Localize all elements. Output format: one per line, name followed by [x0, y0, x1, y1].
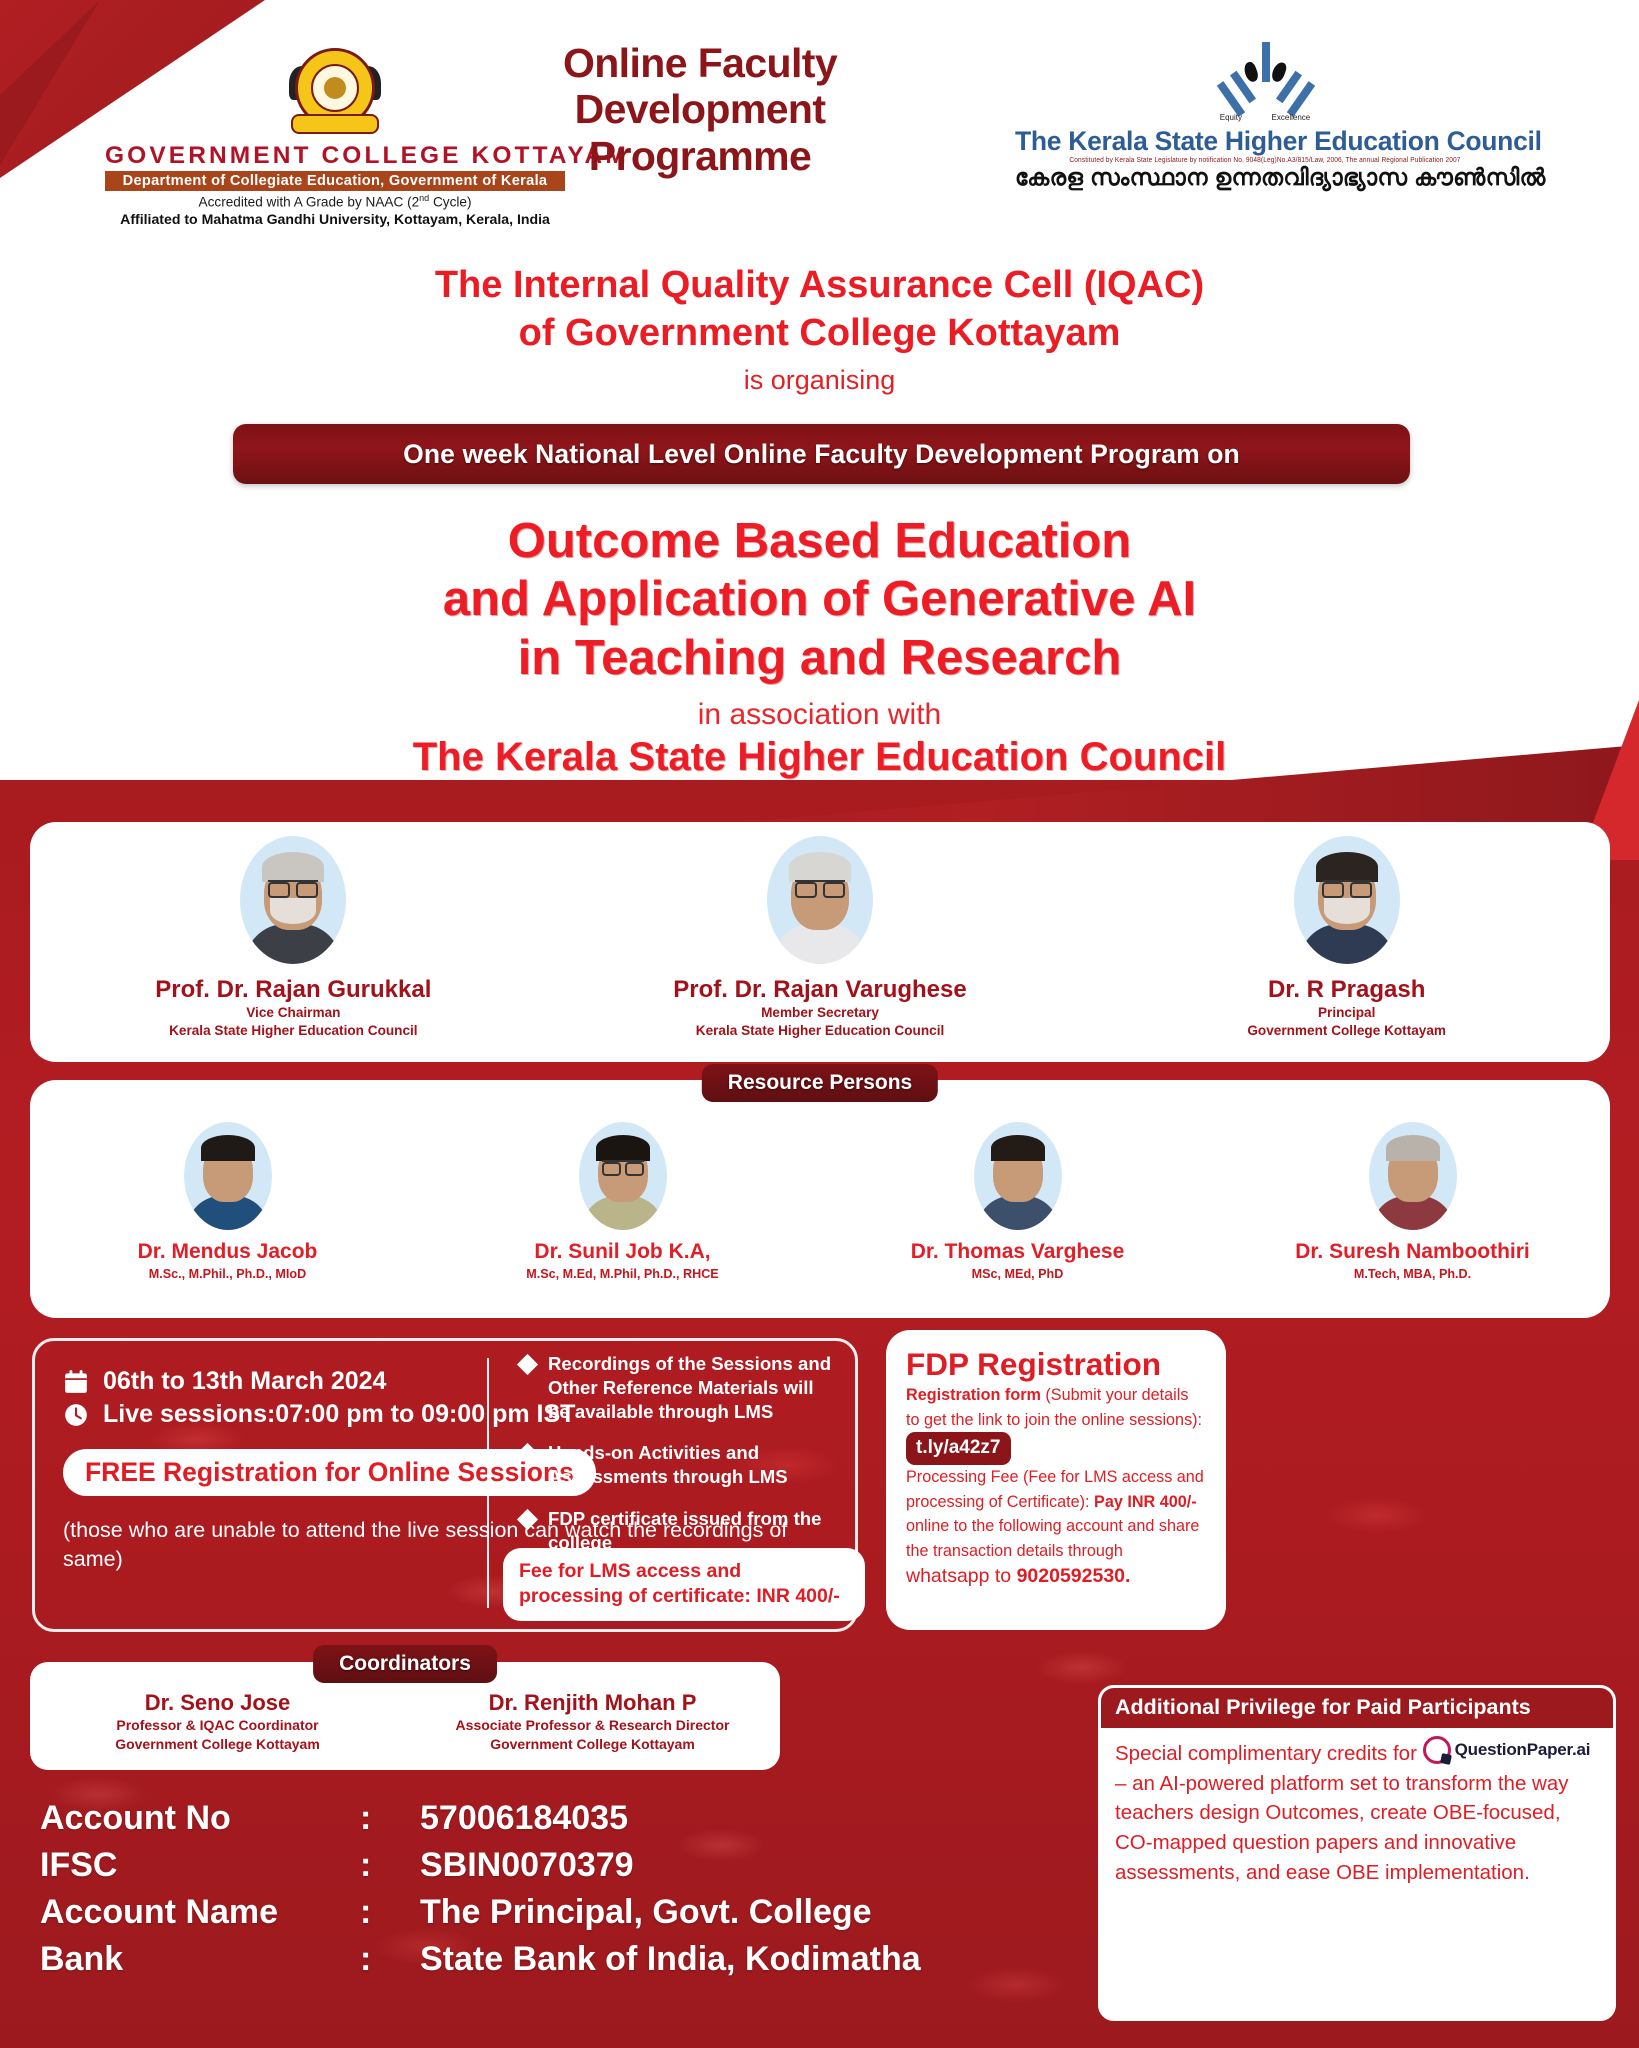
organiser-line-1: The Internal Quality Assurance Cell (IQA… — [0, 262, 1639, 310]
resource-person-name: Dr. Thomas Varghese — [911, 1240, 1125, 1264]
resource-person-degrees: MSc, MEd, PhD — [972, 1267, 1064, 1281]
kshec-logo-block: Equity Excellence The Kerala State Highe… — [1015, 28, 1515, 191]
whatsapp-number: 9020592530. — [1017, 1565, 1131, 1587]
feature-text: Recordings of the Sessions and Other Ref… — [548, 1352, 840, 1423]
kshec-title-ml: കേരള സംസ്ഥാന ഉന്നതവിദ്യാഭ്യാസ കൗൺസിൽ — [1015, 164, 1515, 191]
dignitary-name: Prof. Dr. Rajan Gurukkal — [155, 976, 431, 1004]
coordinators-card: Coordinators Dr. Seno JoseProfessor & IQ… — [30, 1662, 780, 1770]
organiser-block: The Internal Quality Assurance Cell (IQA… — [0, 262, 1639, 396]
dignitary-card: Prof. Dr. Rajan GurukkalVice ChairmanKer… — [30, 822, 557, 1062]
program-title-line-3: in Teaching and Research — [0, 629, 1639, 687]
resource-person-degrees: M.Sc, M.Ed, M.Phil, Ph.D., RHCE — [526, 1267, 718, 1281]
bank-field-label: Account No — [40, 1795, 360, 1842]
resource-person-card: Dr. Thomas VargheseMSc, MEd, PhD — [820, 1122, 1215, 1318]
resource-person-degrees: M.Sc., M.Phil., Ph.D., MIoD — [149, 1267, 306, 1281]
program-title: Outcome Based Education and Application … — [0, 512, 1639, 687]
bank-field-separator: : — [360, 1842, 420, 1889]
list-item: Hands-on Activities and Assessments thro… — [520, 1441, 840, 1489]
privilege-box: Additional Privilege for Paid Participan… — [1098, 1685, 1616, 2021]
association-partner: The Kerala State Higher Education Counci… — [0, 735, 1639, 780]
free-registration-badge: FREE Registration for Online Sessions — [63, 1449, 596, 1496]
bank-field-label: Bank — [40, 1936, 360, 1983]
coordinator-name: Dr. Seno Jose — [30, 1690, 405, 1716]
resource-person-card: Dr. Mendus JacobM.Sc., M.Phil., Ph.D., M… — [30, 1122, 425, 1318]
table-row: IFSC:SBIN0070379 — [40, 1842, 921, 1889]
program-banner-text: One week National Level Online Faculty D… — [403, 439, 1240, 470]
whatsapp-line: whatsapp to 9020592530. — [906, 1565, 1130, 1587]
bank-field-separator: : — [360, 1889, 420, 1936]
diamond-bullet-icon — [517, 1443, 538, 1464]
feature-text: Hands-on Activities and Assessments thro… — [548, 1441, 840, 1489]
live-sessions-text: Live sessions:07:00 pm to 09:00 pm IST — [103, 1400, 575, 1429]
privilege-text: Special complimentary credits for Questi… — [1101, 1728, 1613, 1896]
bank-field-separator: : — [360, 1795, 420, 1842]
registration-body: Registration form (Submit your details t… — [906, 1383, 1206, 1589]
glasses-icon — [268, 880, 318, 894]
poster-header: GOVERNMENT COLLEGE KOTTAYAM Department o… — [0, 0, 1639, 250]
coordinator-role: Associate Professor & Research Director — [405, 1716, 780, 1735]
bank-field-label: IFSC — [40, 1842, 360, 1889]
questionpaper-ai-logo-icon: QuestionPaper.ai — [1423, 1736, 1591, 1764]
resource-person-name: Dr. Suresh Namboothiri — [1295, 1240, 1530, 1264]
processing-fee-text-2: online to the following account and shar… — [906, 1517, 1199, 1560]
college-accreditation: Accredited with A Grade by NAAC (2nd Cyc… — [105, 193, 565, 210]
portrait-rajan-varughese — [767, 836, 873, 964]
bank-field-value: 57006184035 — [420, 1795, 921, 1842]
table-row: Bank:State Bank of India, Kodimatha — [40, 1936, 921, 1983]
dignitary-org: Kerala State Higher Education Council — [696, 1022, 945, 1040]
program-title-line-2: and Application of Generative AI — [0, 570, 1639, 628]
dignitary-org: Kerala State Higher Education Council — [169, 1022, 418, 1040]
bank-field-value: SBIN0070379 — [420, 1842, 921, 1889]
portrait-r-pragash — [1294, 836, 1400, 964]
bank-field-separator: : — [360, 1936, 420, 1983]
diamond-bullet-icon — [517, 1509, 538, 1530]
association-prefix: in association with — [0, 698, 1639, 732]
privilege-text-1: Special complimentary credits for — [1115, 1742, 1423, 1765]
list-item: Recordings of the Sessions and Other Ref… — [520, 1352, 840, 1423]
table-row: Account No:57006184035 — [40, 1795, 921, 1842]
portrait-sunil-job — [579, 1122, 667, 1230]
privilege-text-2: – an AI-powered platform set to transfor… — [1115, 1772, 1569, 1884]
coordinator-card: Dr. Renjith Mohan PAssociate Professor &… — [405, 1690, 780, 1770]
bank-details: Account No:57006184035IFSC:SBIN0070379Ac… — [40, 1795, 921, 1983]
emblem-word-excellence: Excellence — [1272, 113, 1311, 122]
coordinator-name: Dr. Renjith Mohan P — [405, 1690, 780, 1716]
bank-field-value: State Bank of India, Kodimatha — [420, 1936, 921, 1983]
dignitary-role: Vice Chairman — [246, 1004, 340, 1022]
features-list: Recordings of the Sessions and Other Ref… — [520, 1352, 840, 1573]
questionpaper-ai-brand: QuestionPaper.ai — [1455, 1738, 1591, 1763]
dignitary-name: Prof. Dr. Rajan Varughese — [673, 976, 966, 1004]
dates-text: 06th to 13th March 2024 — [103, 1367, 386, 1396]
glasses-icon — [602, 1160, 644, 1174]
program-title-line-1: Outcome Based Education — [0, 512, 1639, 570]
registration-link[interactable]: t.ly/a42z7 — [906, 1432, 1011, 1465]
dignitary-role: Member Secretary — [761, 1004, 879, 1022]
kshec-statute-line: Constituted by Kerala State Legislature … — [1015, 157, 1515, 165]
resource-persons-label: Resource Persons — [702, 1064, 938, 1102]
registration-title: FDP Registration — [906, 1348, 1206, 1381]
resource-person-name: Dr. Sunil Job K.A, — [534, 1240, 710, 1264]
resource-person-card: Dr. Sunil Job K.A,M.Sc, M.Ed, M.Phil, Ph… — [425, 1122, 820, 1318]
organiser-line-3: is organising — [0, 365, 1639, 396]
college-affiliation: Affiliated to Mahatma Gandhi University,… — [105, 211, 565, 227]
resource-person-name: Dr. Mendus Jacob — [138, 1240, 318, 1264]
dignitary-card: Prof. Dr. Rajan VarugheseMember Secretar… — [557, 822, 1084, 1062]
resource-person-card: Dr. Suresh NamboothiriM.Tech, MBA, Ph.D. — [1215, 1122, 1610, 1318]
clock-icon — [63, 1402, 89, 1428]
table-row: Account Name:The Principal, Govt. Colleg… — [40, 1889, 921, 1936]
glasses-icon — [1322, 880, 1372, 894]
portrait-rajan-gurukkal — [240, 836, 346, 964]
emblem-word-equity: Equity — [1220, 113, 1242, 122]
portrait-mendus-jacob — [184, 1122, 272, 1230]
panel-divider — [487, 1358, 489, 1608]
registration-card: FDP Registration Registration form (Subm… — [886, 1330, 1226, 1630]
page-title: Online Faculty Development Programme — [490, 40, 910, 179]
coordinators-label: Coordinators — [313, 1645, 497, 1683]
fee-box: Fee for LMS access and processing of cer… — [503, 1548, 865, 1621]
fdp-poster: GOVERNMENT COLLEGE KOTTAYAM Department o… — [0, 0, 1639, 2048]
kshec-title-en: The Kerala State Higher Education Counci… — [1015, 126, 1515, 157]
resource-persons-card: Resource Persons Dr. Mendus JacobM.Sc., … — [30, 1080, 1610, 1318]
bank-field-label: Account Name — [40, 1889, 360, 1936]
organiser-line-2: of Government College Kottayam — [0, 310, 1639, 358]
program-banner: One week National Level Online Faculty D… — [233, 424, 1410, 484]
coordinator-org: Government College Kottayam — [30, 1735, 405, 1754]
calendar-icon — [63, 1369, 89, 1395]
dignitaries-card: Prof. Dr. Rajan GurukkalVice ChairmanKer… — [30, 822, 1610, 1062]
dignitary-org: Government College Kottayam — [1247, 1022, 1446, 1040]
registration-form-label: Registration form — [906, 1386, 1041, 1404]
coordinator-card: Dr. Seno JoseProfessor & IQAC Coordinato… — [30, 1690, 405, 1770]
dignitary-card: Dr. R PragashPrincipalGovernment College… — [1083, 822, 1610, 1062]
glasses-icon — [795, 880, 845, 894]
college-crest-icon — [287, 40, 383, 136]
bank-field-value: The Principal, Govt. College — [420, 1889, 921, 1936]
kshec-emblem-icon: Equity Excellence — [1205, 28, 1325, 124]
diamond-bullet-icon — [517, 1354, 538, 1375]
dignitary-role: Principal — [1318, 1004, 1375, 1022]
portrait-suresh-namboothiri — [1369, 1122, 1457, 1230]
coordinator-role: Professor & IQAC Coordinator — [30, 1716, 405, 1735]
processing-fee-amount: Pay INR 400/- — [1094, 1493, 1197, 1511]
dignitary-name: Dr. R Pragash — [1268, 976, 1425, 1004]
coordinator-org: Government College Kottayam — [405, 1735, 780, 1754]
portrait-thomas-varghese — [974, 1122, 1062, 1230]
privilege-heading: Additional Privilege for Paid Participan… — [1101, 1688, 1613, 1728]
resource-person-degrees: M.Tech, MBA, Ph.D. — [1354, 1267, 1471, 1281]
